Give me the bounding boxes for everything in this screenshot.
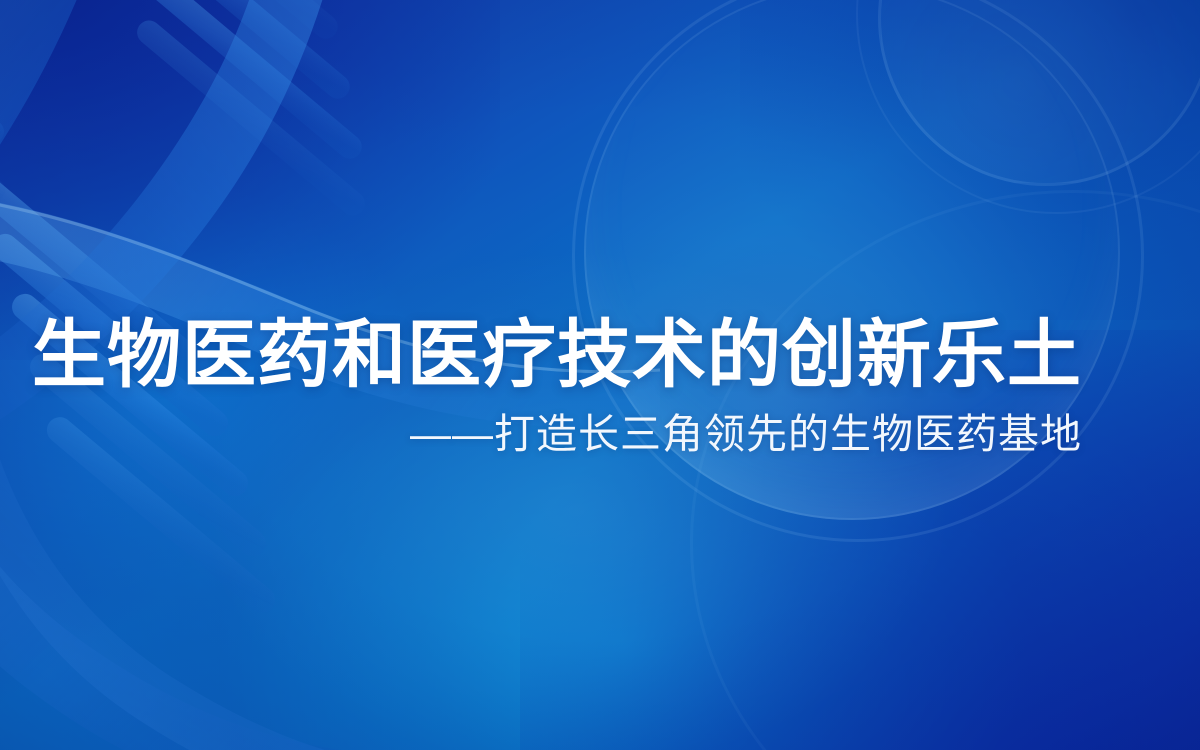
title-block: 生物医药和医疗技术的创新乐土 ——打造长三角领先的生物医药基地 — [0, 318, 1082, 455]
page-title: 生物医药和医疗技术的创新乐土 — [0, 318, 1082, 392]
slide-canvas: 生物医药和医疗技术的创新乐土 ——打造长三角领先的生物医药基地 — [0, 0, 1200, 750]
background-corner-shade-top-right — [740, 0, 1200, 320]
page-subtitle: ——打造长三角领先的生物医药基地 — [0, 414, 1082, 455]
